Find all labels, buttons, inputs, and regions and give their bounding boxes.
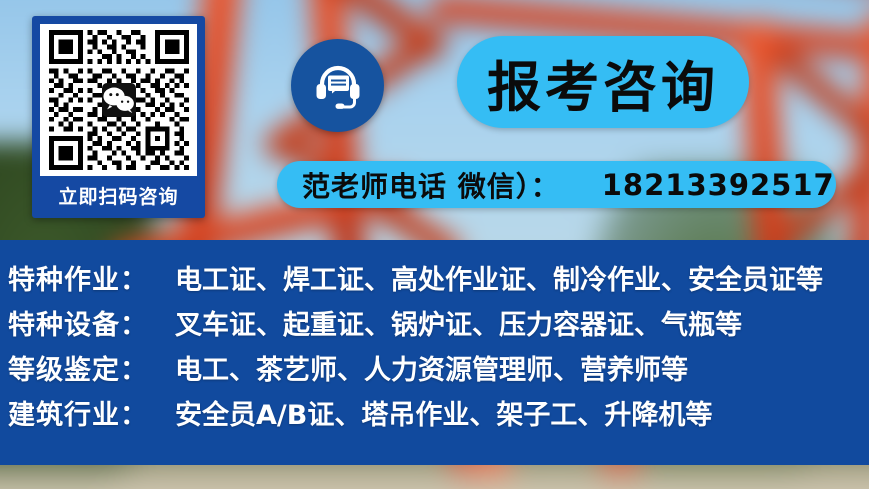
qr-card[interactable]: 立即扫码咨询 — [32, 16, 205, 218]
qr-card-caption: 立即扫码咨询 — [58, 176, 178, 218]
category-items: 电工证、焊工证、高处作业证、制冷作业、安全员证等 — [175, 258, 823, 303]
certificate-categories-panel: 特种作业： 电工证、焊工证、高处作业证、制冷作业、安全员证等 特种设备： 叉车证… — [0, 240, 869, 465]
category-items: 安全员A/B证、塔吊作业、架子工、升降机等 — [175, 393, 712, 438]
qr-code[interactable] — [49, 30, 189, 170]
certificate-list: 特种作业： 电工证、焊工证、高处作业证、制冷作业、安全员证等 特种设备： 叉车证… — [0, 240, 869, 438]
qr-code-frame — [40, 24, 197, 176]
category-label: 特种作业： — [8, 258, 175, 303]
headset-support-icon — [291, 39, 384, 132]
list-item: 特种作业： 电工证、焊工证、高处作业证、制冷作业、安全员证等 — [8, 258, 869, 303]
category-items: 电工、茶艺师、人力资源管理师、营养师等 — [175, 348, 688, 393]
promotional-banner: 立即扫码咨询 报考咨询 范老师电话 微信）： 18213392517 特种作业：… — [0, 0, 869, 489]
wechat-logo-icon — [102, 83, 136, 117]
list-item: 等级鉴定： 电工、茶艺师、人力资源管理师、营养师等 — [8, 348, 869, 393]
category-label: 等级鉴定： — [8, 348, 175, 393]
category-label: 建筑行业： — [8, 393, 175, 438]
phone-label: 范老师电话 微信）： — [302, 165, 560, 205]
phone-pill[interactable]: 范老师电话 微信）： 18213392517 — [277, 161, 836, 208]
phone-number[interactable]: 18213392517 — [602, 168, 835, 202]
consultation-title: 报考咨询 — [487, 43, 719, 122]
category-items: 叉车证、起重证、锅炉证、压力容器证、气瓶等 — [175, 303, 742, 348]
list-item: 特种设备： 叉车证、起重证、锅炉证、压力容器证、气瓶等 — [8, 303, 869, 348]
consultation-title-pill[interactable]: 报考咨询 — [457, 36, 749, 128]
category-label: 特种设备： — [8, 303, 175, 348]
list-item: 建筑行业： 安全员A/B证、塔吊作业、架子工、升降机等 — [8, 393, 869, 438]
